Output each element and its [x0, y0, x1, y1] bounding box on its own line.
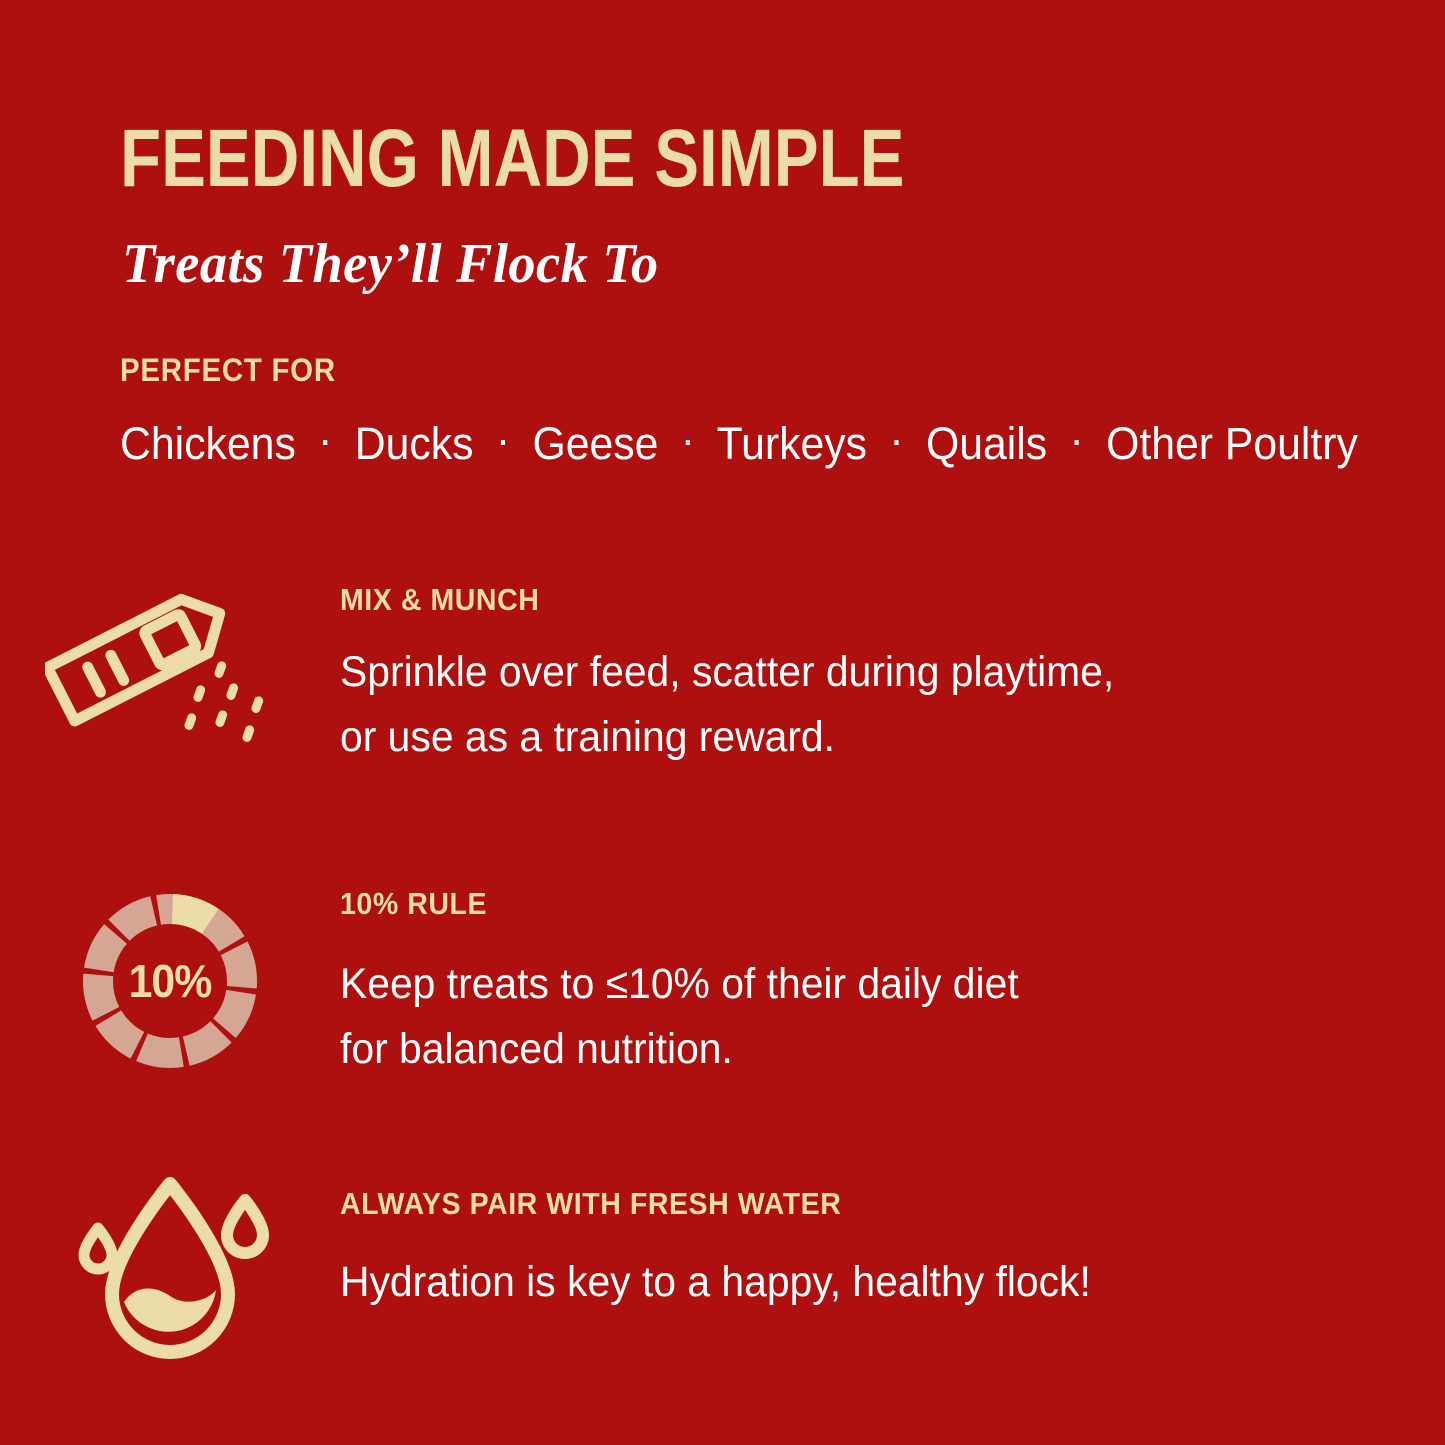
species-separator: · [1059, 414, 1094, 465]
icon-cell: 10% [0, 868, 340, 1076]
feature-line: Sprinkle over feed, scatter during playt… [340, 640, 1114, 705]
perfect-for-label: PERFECT FOR [120, 352, 336, 389]
feature-row-mix-and-munch: MIX & MUNCH Sprinkle over feed, scatter … [0, 578, 1445, 782]
species-item-quails: Quails [926, 418, 1047, 469]
species-item-geese: Geese [532, 418, 658, 469]
feature-line: or use as a training reward. [340, 705, 1114, 770]
feature-title: MIX & MUNCH [340, 582, 1090, 618]
species-list: Chickens · Ducks · Geese · Turkeys · Qua… [120, 418, 1358, 470]
species-separator: · [879, 414, 914, 465]
species-item-turkeys: Turkeys [717, 418, 867, 469]
small-droplet-left [84, 1228, 112, 1269]
species-separator: · [485, 414, 520, 465]
feeding-guide-poster: FEEDING MADE SIMPLE Treats They’ll Flock… [0, 0, 1445, 1445]
species-item-other-poultry: Other Poultry [1106, 418, 1358, 469]
small-droplet-right [227, 1200, 263, 1253]
granules [183, 660, 264, 743]
text-cell: ALWAYS PAIR WITH FRESH WATER Hydration i… [340, 1158, 1130, 1315]
feature-line: Keep treats to ≤10% of their daily diet [340, 952, 1019, 1017]
feature-title: 10% RULE [340, 886, 997, 922]
page-subtitle: Treats They’ll Flock To [122, 236, 659, 292]
feature-line: for balanced nutrition. [340, 1017, 1019, 1082]
icon-cell [0, 578, 340, 782]
feature-line: Hydration is key to a happy, healthy flo… [340, 1250, 1091, 1315]
species-separator: · [670, 414, 705, 465]
species-item-ducks: Ducks [355, 418, 474, 469]
ten-percent-donut-icon: 10% [75, 886, 265, 1076]
text-cell: MIX & MUNCH Sprinkle over feed, scatter … [340, 578, 1155, 771]
droplet-water-fill [124, 1288, 216, 1331]
feature-title: ALWAYS PAIR WITH FRESH WATER [340, 1186, 1067, 1222]
donut-value-label: 10% [82, 886, 259, 1076]
feature-row-fresh-water: ALWAYS PAIR WITH FRESH WATER Hydration i… [0, 1158, 1445, 1372]
water-droplet-icon [60, 1162, 280, 1372]
feature-row-ten-percent-rule: 10% 10% RULE Keep treats to ≤10% of thei… [0, 868, 1445, 1083]
sprinkle-packet-icon [45, 582, 295, 782]
icon-cell [0, 1158, 340, 1372]
page-title: FEEDING MADE SIMPLE [120, 118, 905, 200]
text-cell: 10% RULE Keep treats to ≤10% of their da… [340, 868, 1054, 1083]
species-separator: · [308, 414, 343, 465]
species-item-chickens: Chickens [120, 418, 296, 469]
